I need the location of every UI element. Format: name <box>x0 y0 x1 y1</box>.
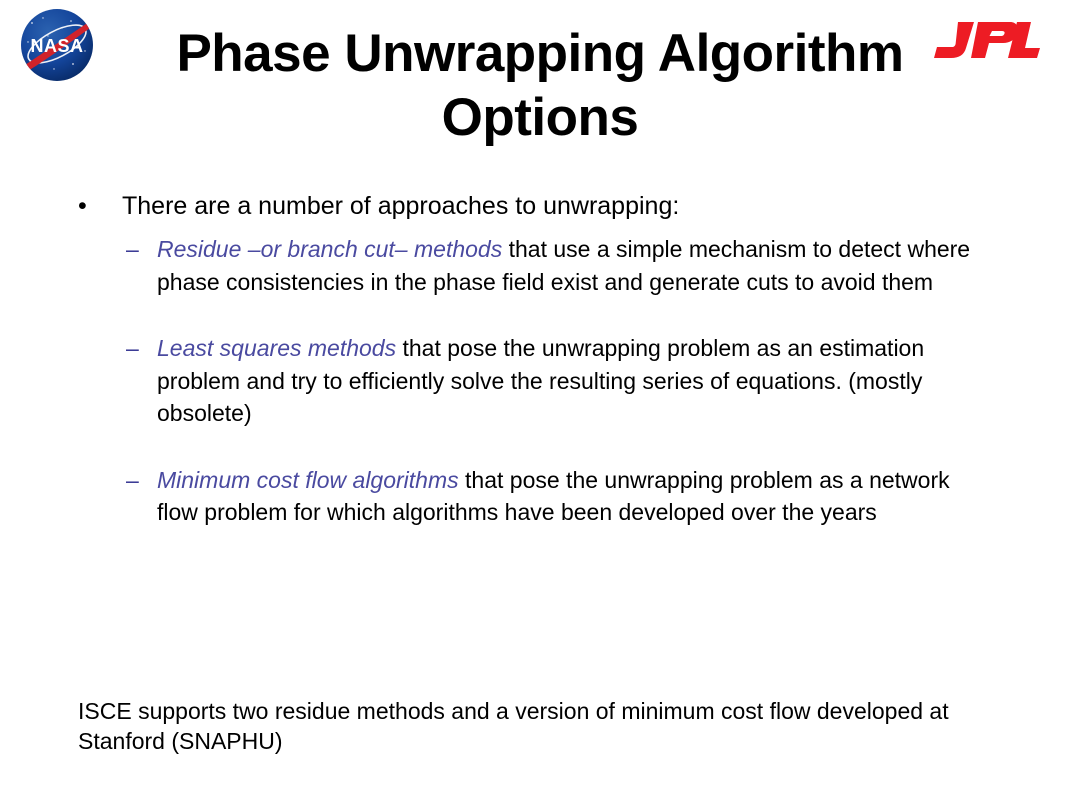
bullet-lead-text: Residue –or branch cut– methods <box>157 236 502 262</box>
bullet-level1-text: There are a number of approaches to unwr… <box>122 192 679 220</box>
nasa-meatball-icon: NASA <box>10 6 104 84</box>
bullet-lead-text: Minimum cost flow algorithms <box>157 467 459 493</box>
slide-title-line1: Phase Unwrapping Algorithm <box>128 22 952 86</box>
nasa-wordmark-text: NASA <box>30 36 83 56</box>
slide-title: Phase Unwrapping Algorithm Options <box>128 22 952 150</box>
bullet-level2-least-squares: – Least squares methods that pose the un… <box>0 332 1080 430</box>
bullet-lead-text: Least squares methods <box>157 335 396 361</box>
dash-marker-icon: – <box>126 233 139 266</box>
bullet-level1: • There are a number of approaches to un… <box>0 190 1080 223</box>
slide-body: • There are a number of approaches to un… <box>0 190 1080 563</box>
dash-marker-icon: – <box>126 332 139 365</box>
bullet-marker-icon: • <box>78 190 87 223</box>
dash-marker-icon: – <box>126 464 139 497</box>
bullet-level2-residue: – Residue –or branch cut– methods that u… <box>0 233 1080 298</box>
slide-title-line2: Options <box>128 86 952 150</box>
presentation-slide: NASA Phase Unwrapping Algorithm Options … <box>0 0 1080 810</box>
bullet-level2-min-cost-flow: – Minimum cost flow algorithms that pose… <box>0 464 1080 529</box>
closing-note: ISCE supports two residue methods and a … <box>78 696 978 756</box>
